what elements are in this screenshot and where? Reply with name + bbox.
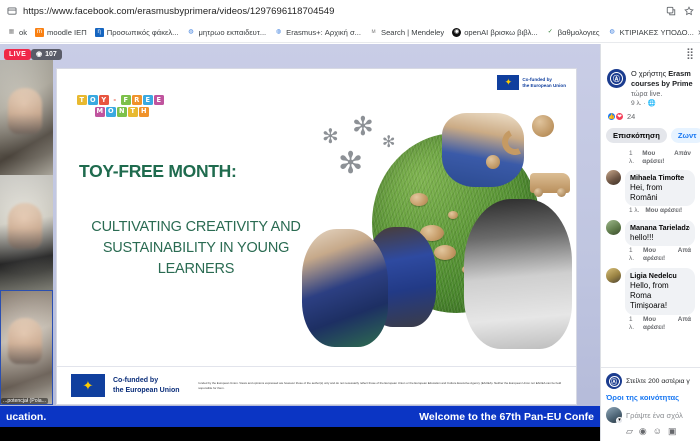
- wooden-toy: [486, 155, 500, 169]
- logo-tile: O: [88, 95, 98, 105]
- avatar[interactable]: [606, 170, 621, 185]
- post-time-text: 9 λ.: [631, 100, 642, 107]
- logo-tile: T: [128, 107, 138, 117]
- flower-icon: ✻: [338, 149, 363, 179]
- comment-author[interactable]: Mihaela Timofte: [630, 173, 690, 182]
- player-bottom-bar[interactable]: [0, 427, 600, 441]
- eu-line-1: Co-funded by: [113, 376, 180, 385]
- logo-tile: O: [106, 107, 116, 117]
- presentation-slide: ✦ Co-funded by the European Union T O Y …: [56, 68, 577, 405]
- bookmark-label: μητρωο εκπαιδευτ...: [199, 28, 267, 37]
- eu-stars: ✦: [83, 379, 94, 392]
- comment-actions: 1 λ. Μου αρέσει! Απά: [625, 246, 695, 263]
- comment-actions: 1 λ. Μου αρέσει!: [625, 206, 695, 215]
- comment-time: 1 λ.: [629, 150, 636, 166]
- comment-like-button[interactable]: Μου αρέσει!: [643, 247, 672, 263]
- bookmark-label: Erasmus+: Αρχική σ...: [286, 28, 361, 37]
- bookmark-label: βαθμολογιες: [558, 28, 600, 37]
- comment-bubble: Manana Tarieladze hello!!!: [625, 220, 695, 246]
- comment-like-button[interactable]: Μου αρέσει!: [645, 207, 682, 215]
- page-name[interactable]: Erasm: [668, 69, 691, 78]
- video-player[interactable]: ...potencjał (Pola... ✦ Co-funded by the…: [0, 44, 600, 441]
- bookmark-item-openai[interactable]: ◉ openAI βρισκω βιβλ...: [448, 27, 542, 38]
- send-stars-text: Στείλτε 200 αστέρια γ: [626, 378, 690, 385]
- grades-favicon: ✓: [546, 28, 555, 37]
- slide-title: TOY-FREE MONTH:: [79, 161, 317, 182]
- comment-actions: 1 λ. Μου αρέσει! Απάν: [606, 149, 695, 170]
- comment-author[interactable]: Manana Tarieladze: [630, 223, 690, 232]
- participant-tile-active[interactable]: ...potencjał (Pola...: [0, 290, 53, 405]
- news-ticker-banner: ucation. Welcome to the 67th Pan-EU Conf…: [0, 406, 600, 427]
- globe-favicon: ◍: [608, 28, 617, 37]
- panel-header: ⣿: [601, 44, 700, 64]
- comment-author[interactable]: Ligia Nedelcu: [630, 271, 690, 280]
- omnibox[interactable]: https://www.facebook.com/erasmusbyprimer…: [0, 0, 700, 22]
- bookmarks-bar: ▦ ok m moodle ΙΕΠ η Προσωπικός φάκελ... …: [0, 22, 700, 43]
- bookmark-label: Search | Mendeley: [381, 28, 444, 37]
- screen-root: https://www.facebook.com/erasmusbyprimer…: [0, 0, 700, 441]
- logo-tile: E: [143, 95, 153, 105]
- reactions-row[interactable]: 👍 ❤ 24: [601, 109, 700, 126]
- comment-bubble: Ligia Nedelcu Hello, from Roma Timișoara…: [625, 268, 695, 315]
- eu-cofunding-text: Co-funded by the European Union: [113, 376, 180, 394]
- eu-flag-icon: ✦: [71, 374, 105, 397]
- post-title-line-2: courses by Prime: [631, 79, 694, 89]
- sticker-icon[interactable]: ▱: [626, 427, 633, 436]
- active-speaker-border: [0, 290, 53, 405]
- bookmark-item-folder[interactable]: η Προσωπικός φάκελ...: [91, 27, 183, 38]
- participant-face: [8, 88, 42, 134]
- comment-text: Hei, from Români: [630, 183, 690, 204]
- slide-collage-image: ✻ ✻ ✻ ✻: [294, 111, 572, 349]
- avatar-monogram: Ⓐ: [610, 72, 623, 85]
- bookmark-item-grades[interactable]: ✓ βαθμολογιες: [542, 27, 604, 38]
- bookmark-favicon: ▦: [7, 28, 16, 37]
- registry-favicon: ◍: [187, 28, 196, 37]
- omnibox-actions: [665, 6, 694, 17]
- bookmark-label: ok: [19, 28, 27, 37]
- community-standards-link[interactable]: Όροι της κοινότητας: [601, 392, 700, 405]
- flower-icon: ✻: [322, 127, 339, 147]
- viewer-count: 107: [45, 51, 57, 58]
- bookmark-item-moodle[interactable]: m moodle ΙΕΠ: [31, 27, 91, 38]
- eu-line-2: the European Union: [522, 83, 566, 89]
- page-info-icon[interactable]: [6, 6, 17, 17]
- globe-icon: 🌐: [648, 100, 656, 107]
- list-item[interactable]: Ligia Nedelcu Hello, from Roma Timișoara…: [606, 268, 695, 332]
- avatar-monogram: Ⓐ: [609, 376, 620, 387]
- bookmark-label: Προσωπικός φάκελ...: [107, 28, 179, 37]
- comment-actions: 1 λ. Μου αρέσει! Απά: [625, 315, 695, 332]
- avatar[interactable]: [606, 220, 621, 235]
- comments-panel: ⣿ Ⓐ Ο χρήστης Erasm courses by Prime τώρ…: [600, 44, 700, 441]
- bookmark-item-registry[interactable]: ◍ μητρωο εκπαιδευτ...: [183, 27, 271, 38]
- logo-tile: H: [139, 107, 149, 117]
- post-header: Ⓐ Ο χρήστης Erasm courses by Prime τώρα …: [601, 64, 700, 109]
- logo-tile: M: [95, 107, 105, 117]
- post-title-line: Ο χρήστης Erasm: [631, 69, 694, 79]
- wooden-disc: [434, 245, 456, 260]
- openai-favicon: ◉: [452, 28, 461, 37]
- slide-subtitle: CULTIVATING CREATIVITY AND SUSTAINABILIT…: [71, 217, 321, 280]
- comment-text: Hello, from Roma Timișoara!: [630, 281, 690, 312]
- eu-flag-icon: ✦: [497, 75, 519, 90]
- globe-favicon: ◍: [274, 28, 283, 37]
- eu-stars: ✦: [505, 78, 513, 87]
- send-stars-row[interactable]: Ⓐ Στείλτε 200 αστέρια γ: [601, 367, 700, 392]
- logo-tile: Y: [99, 95, 109, 105]
- viewer-count-badge: ◉ 107: [31, 49, 62, 60]
- tab-overview[interactable]: Επισκόπηση: [606, 128, 667, 143]
- eu-disclaimer-text: Funded by the European Union. Views and …: [198, 381, 563, 390]
- camera-icon[interactable]: ▣: [668, 427, 677, 436]
- logo-tile: T: [77, 95, 87, 105]
- slide-eu-cofunding-top: ✦ Co-funded by the European Union: [497, 75, 566, 90]
- comments-list[interactable]: 1 λ. Μου αρέσει! Απάν Mihaela Timofte He…: [601, 149, 700, 367]
- toy-free-month-logo: T O Y - F R E E M O N T H: [77, 95, 173, 118]
- post-meta: Ο χρήστης Erasm courses by Prime τώρα li…: [631, 69, 694, 107]
- participant-tile[interactable]: [0, 60, 53, 175]
- bookmark-item-ktiriakes[interactable]: ◍ ΚΤΙΡΙΑΚΕΣ ΥΠΟΔΟ...: [604, 27, 698, 38]
- comment-reply-button[interactable]: Απά: [678, 316, 691, 332]
- comment-like-button[interactable]: Μου αρέσει!: [642, 150, 668, 166]
- facebook-video-page: ...potencjał (Pola... ✦ Co-funded by the…: [0, 44, 700, 441]
- gif-icon[interactable]: ◉: [639, 427, 647, 436]
- ticker-left-text: ucation.: [6, 411, 46, 423]
- eye-icon: ◉: [36, 51, 42, 58]
- love-icon: ❤: [615, 112, 624, 121]
- logo-row-1: T O Y - F R E E: [77, 95, 173, 105]
- bookmark-label: openAI βρισκω βιβλ...: [464, 28, 538, 37]
- comment-reply-button[interactable]: Απάν: [674, 150, 691, 166]
- comment-text: hello!!!: [630, 233, 690, 243]
- logo-tile: F: [121, 95, 131, 105]
- logo-tile: N: [117, 107, 127, 117]
- star-icon[interactable]: [683, 6, 694, 17]
- emoji-icon[interactable]: ☺: [653, 427, 662, 436]
- comment-time: 1 λ.: [629, 316, 637, 332]
- page-avatar-icon[interactable]: Ⓐ: [607, 69, 626, 88]
- comment-bubble: Mihaela Timofte Hei, from Români: [625, 170, 695, 206]
- mendeley-favicon: м: [369, 28, 378, 37]
- bookmark-item-erasmus[interactable]: ◍ Erasmus+: Αρχική σ...: [270, 27, 365, 38]
- participant-tile[interactable]: [0, 175, 53, 290]
- ticker-right-text: Welcome to the 67th Pan-EU Confe: [419, 411, 594, 423]
- participant-face: [8, 203, 42, 249]
- wooden-disc: [410, 193, 428, 206]
- participant-name-label: ...potencjał (Pola...: [1, 398, 48, 404]
- chevron-down-icon[interactable]: ▾: [616, 417, 623, 424]
- child-figure: [302, 229, 388, 347]
- stars-avatar-icon: Ⓐ: [606, 373, 622, 389]
- avatar[interactable]: [606, 268, 621, 283]
- logo-tile: -: [110, 95, 120, 105]
- panel-tabs: Επισκόπηση Ζωντ: [601, 126, 700, 149]
- bookmark-label: ΚΤΙΡΙΑΚΕΣ ΥΠΟΔΟ...: [620, 28, 694, 37]
- post-status: τώρα live.: [631, 89, 694, 99]
- slide-footer: ✦ Co-funded by the European Union Funded…: [57, 366, 576, 404]
- bookmark-item[interactable]: ▦ ok: [3, 27, 31, 38]
- comment-time: 1 λ.: [629, 247, 637, 263]
- live-badge: LIVE: [4, 49, 31, 60]
- comment-like-button[interactable]: Μου αρέσει!: [643, 316, 672, 332]
- wooden-toy: [532, 115, 554, 137]
- page-name-cont[interactable]: courses by Prime: [631, 79, 693, 88]
- browser-chrome: https://www.facebook.com/erasmusbyprimer…: [0, 0, 700, 44]
- reaction-count: 24: [627, 112, 635, 121]
- comment-time: 1 λ.: [629, 207, 639, 215]
- install-app-icon[interactable]: [665, 6, 676, 17]
- moodle-favicon: m: [35, 28, 44, 37]
- post-prefix: Ο χρήστης: [631, 69, 668, 78]
- composer-tools: ▱ ◉ ☺ ▣: [601, 425, 700, 441]
- bookmark-item-mendeley[interactable]: м Search | Mendeley: [365, 27, 448, 38]
- eu-cofunding-text: Co-funded by the European Union: [522, 77, 566, 88]
- comment-composer[interactable]: ▾ Γράψτε ένα σχόλ: [601, 405, 700, 425]
- child-figure: [464, 199, 572, 349]
- comment-reply-button[interactable]: Απά: [678, 247, 691, 263]
- logo-row-2: M O N T H: [77, 107, 173, 117]
- user-avatar-icon[interactable]: ▾: [606, 407, 622, 423]
- logo-tile: E: [154, 95, 164, 105]
- eu-line-2: the European Union: [113, 386, 180, 395]
- comment-body: Mihaela Timofte Hei, from Români 1 λ. Μο…: [625, 170, 695, 215]
- tab-live[interactable]: Ζωντ: [671, 128, 700, 143]
- wooden-disc: [448, 211, 458, 219]
- list-item[interactable]: Manana Tarieladze hello!!! 1 λ. Μου αρέσ…: [606, 220, 695, 263]
- logo-tile: R: [132, 95, 142, 105]
- participant-filmstrip: ...potencjał (Pola...: [0, 60, 53, 405]
- comment-body: Ligia Nedelcu Hello, from Roma Timișoara…: [625, 268, 695, 332]
- comment-body: Manana Tarieladze hello!!! 1 λ. Μου αρέσ…: [625, 220, 695, 263]
- wooden-car-toy: [530, 173, 570, 193]
- bookmark-label: moodle ΙΕΠ: [47, 28, 87, 37]
- post-timestamp: 9 λ. · 🌐: [631, 99, 694, 107]
- comment-input[interactable]: Γράψτε ένα σχόλ: [626, 411, 695, 420]
- folder-favicon: η: [95, 28, 104, 37]
- flower-icon: ✻: [352, 113, 374, 139]
- url-text[interactable]: https://www.facebook.com/erasmusbyprimer…: [23, 6, 657, 17]
- kebab-menu-icon[interactable]: ⣿: [686, 49, 694, 60]
- list-item[interactable]: Mihaela Timofte Hei, from Români 1 λ. Μο…: [606, 170, 695, 215]
